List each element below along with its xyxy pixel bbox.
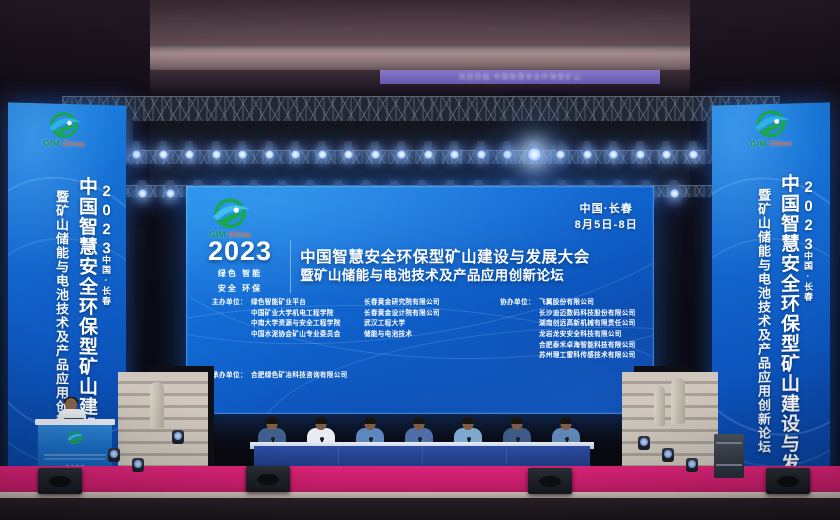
stage-light-lower-1 — [166, 189, 175, 198]
host-list-col2: 长春黄金研究院有限公司 长春黄金设计院有限公司 武汉工程大学 储能与电池技术 — [364, 298, 500, 341]
panelist-hair — [315, 417, 327, 424]
co-organizers-col: 协办单位： 飞翼股份有限公司 长沙迪迈数码科技股份有限公司 湖南创远高新机械有限… — [500, 298, 636, 362]
balustrade-right-2 — [654, 386, 665, 426]
stage-light-upper-10 — [397, 150, 406, 159]
host-list-col1: 绿色智能矿业平台 中国矿业大学机电工程学院 中南大学资源与安全工程学院 中国水泥… — [251, 298, 341, 362]
stage-light-upper-19 — [636, 150, 645, 159]
banner-left-location: 中国·长春 — [101, 255, 110, 306]
ceiling-beam — [120, 44, 720, 70]
event-year: 2023 — [208, 238, 272, 265]
podium-top — [35, 419, 115, 425]
stage-light-upper-21 — [689, 150, 698, 159]
panelist-hair — [462, 417, 474, 424]
moving-head-light-6 — [686, 458, 698, 472]
stage-light-upper-18 — [609, 150, 618, 159]
event-year-block: 2023 绿色 智能 安全 环保 — [208, 238, 281, 295]
stage-light-upper-9 — [371, 150, 380, 159]
event-location: 中国·长春 — [575, 202, 638, 218]
co-organizer-item: 飞翼股份有限公司 — [539, 298, 636, 309]
moving-head-light-5 — [662, 448, 674, 462]
banner-left-year: 2023 — [99, 183, 114, 259]
panelist-hair — [413, 417, 425, 424]
undertaker-label: 承办单位： — [212, 371, 247, 382]
ticker-text: 欢迎莅临 中国智慧安全环保型矿山 — [459, 72, 582, 82]
event-title-row: 2023 绿色 智能 安全 环保 中国智慧安全环保型矿山建设与发展大会 暨矿山储… — [208, 238, 638, 295]
stage-light-upper-7 — [318, 150, 327, 159]
panelist-hair — [560, 417, 572, 424]
stage-monitor-center-right — [528, 468, 572, 494]
host-label: 主办单位： — [212, 298, 247, 362]
stage-light-upper-11 — [424, 150, 433, 159]
host-item: 长春黄金设计院有限公司 — [364, 309, 500, 320]
balustrade-left — [150, 382, 164, 428]
moving-head-light-3 — [172, 430, 184, 444]
balustrade-right — [671, 378, 685, 424]
stage-monitor-right — [766, 468, 810, 494]
stage-light-upper-17 — [583, 150, 592, 159]
event-dates: 8月5日-8日 — [575, 218, 638, 234]
title-divider — [290, 240, 291, 293]
stage-light-upper-4 — [238, 150, 247, 159]
organizers-section: 主办单位： 绿色智能矿业平台 中国矿业大学机电工程学院 中南大学资源与安全工程学… — [212, 298, 636, 382]
host-organizers-col1: 主办单位： 绿色智能矿业平台 中国矿业大学机电工程学院 中南大学资源与安全工程学… — [212, 298, 364, 362]
co-organizer-list: 飞翼股份有限公司 长沙迪迈数码科技股份有限公司 湖南创远高新机械有限责任公司 龙… — [539, 298, 636, 362]
road-case — [714, 434, 744, 478]
banner-right-title: 中国智慧安全环保型矿山建设与发展大会 — [779, 173, 798, 497]
gim-china-logo-left: GIM China — [38, 111, 90, 152]
banner-right-location: 中国·长春 — [803, 251, 812, 302]
gim-china-logo-right: GIM China — [744, 109, 798, 153]
moving-head-light-1 — [108, 448, 120, 462]
host-item: 绿色智能矿业平台 — [251, 298, 341, 309]
event-slogan-line1: 绿色 智能 — [208, 268, 272, 280]
stage-light-upper-14 — [503, 150, 512, 159]
host-item: 中国水泥协会矿山专业委员会 — [251, 330, 341, 341]
banner-right-subtitle: 暨矿山储能与电池技术及产品应用创新论坛 — [757, 188, 770, 454]
host-item: 武汉工程大学 — [364, 319, 500, 330]
truss-middle — [118, 150, 722, 165]
front-shadow — [0, 498, 840, 520]
stage-light-upper-13 — [477, 150, 486, 159]
panelist-hair — [266, 417, 278, 424]
stage-light-lower-0 — [138, 189, 147, 198]
stage-monitor-left — [38, 468, 82, 494]
panelist-hair — [511, 417, 523, 424]
proscenium-led-ticker: 欢迎莅临 中国智慧安全环保型矿山 — [380, 70, 660, 84]
moving-head-light-4 — [638, 436, 650, 450]
conference-stage-screenshot: 欢迎莅临 中国智慧安全环保型矿山 GIM China 2023 中国·长春 — [0, 0, 840, 520]
co-organizer-item: 龙岩龙安安全科技有限公司 — [539, 330, 636, 341]
stage-light-upper-20 — [662, 150, 671, 159]
host-item: 储能与电池技术 — [364, 330, 500, 341]
host-organizers-col2: 长春黄金研究院有限公司 长春黄金设计院有限公司 武汉工程大学 储能与电池技术 — [364, 298, 500, 362]
stage-light-upper-8 — [344, 150, 353, 159]
moving-head-light-2 — [132, 458, 144, 472]
stage-light-upper-6 — [291, 150, 300, 159]
host-item: 中南大学资源与安全工程学院 — [251, 319, 341, 330]
panelist-hair — [364, 417, 376, 424]
stage-light-upper-1 — [159, 150, 168, 159]
stage-light-upper-16 — [556, 150, 565, 159]
stage-monitor-center-left — [246, 466, 290, 492]
undertaker-row: 承办单位： 合肥绿色矿冶科技咨询有限公司 — [212, 371, 636, 382]
host-item: 长春黄金研究院有限公司 — [364, 298, 500, 309]
co-organizer-label: 协办单位： — [500, 298, 535, 362]
stage-light-upper-5 — [265, 150, 274, 159]
event-title-line2: 暨矿山储能与电池技术及产品应用创新论坛 — [300, 267, 590, 285]
event-title-line1: 中国智慧安全环保型矿山建设与发展大会 — [300, 248, 590, 267]
truss-top — [62, 96, 780, 122]
proscenium-left-shadow — [0, 0, 150, 92]
podium-logo — [62, 431, 88, 451]
undertaker-name: 合肥绿色矿冶科技咨询有限公司 — [251, 371, 348, 382]
host-item: 中国矿业大学机电工程学院 — [251, 309, 341, 320]
stage-light-lower-19 — [670, 189, 679, 198]
co-organizer-item: 合肥泰禾卓海智能科技有限公司 — [539, 341, 636, 352]
main-led-screen: GIM China 中国·长春 8月5日-8日 2023 绿色 智能 安全 环保… — [186, 186, 654, 414]
event-title: 中国智慧安全环保型矿山建设与发展大会 暨矿山储能与电池技术及产品应用创新论坛 — [300, 248, 590, 285]
event-date-block: 中国·长春 8月5日-8日 — [575, 202, 638, 234]
co-organizer-item: 长沙迪迈数码科技股份有限公司 — [539, 309, 636, 320]
co-organizer-item: 苏州理工雷科传感技术有限公司 — [539, 351, 636, 362]
co-organizer-item: 湖南创远高新机械有限责任公司 — [539, 319, 636, 330]
proscenium-right-shadow — [690, 0, 840, 92]
stage-light-upper-0 — [132, 150, 141, 159]
stage-light-upper-2 — [185, 150, 194, 159]
banner-right-year: 2023 — [801, 179, 816, 255]
stage-light-upper-12 — [450, 150, 459, 159]
event-slogan-line2: 安全 环保 — [208, 283, 272, 295]
stage-light-upper-3 — [212, 150, 221, 159]
stage-light-upper-15 — [527, 147, 542, 162]
